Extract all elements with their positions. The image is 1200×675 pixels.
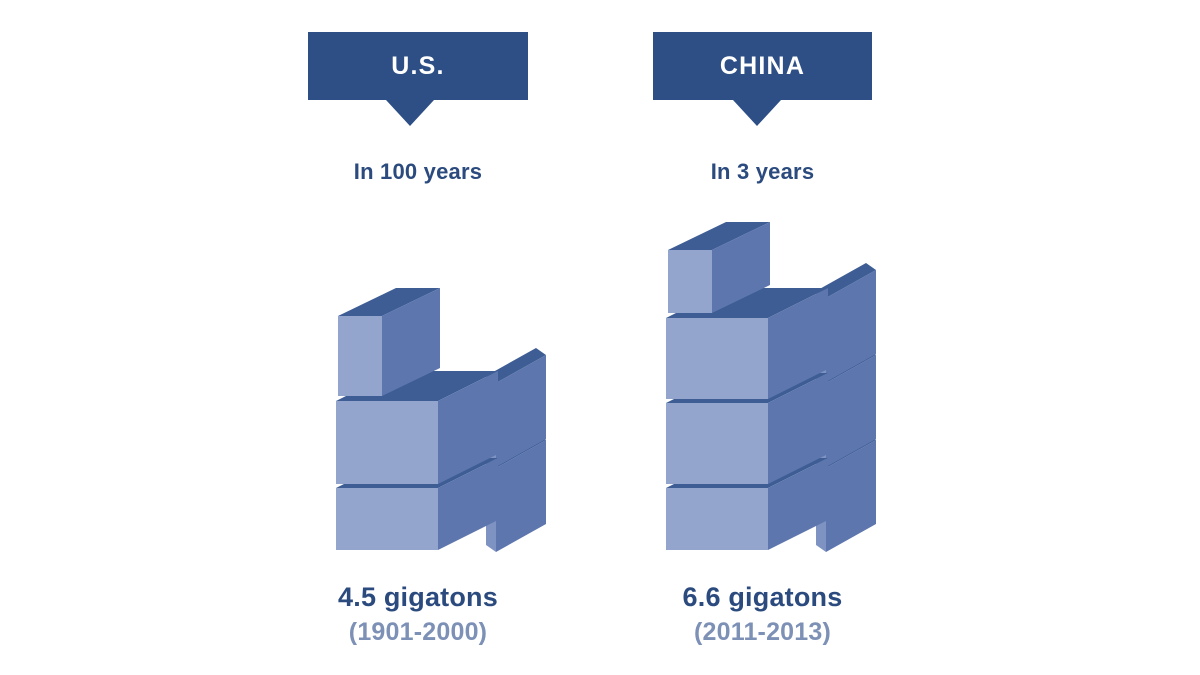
block-stack-china-graphic <box>648 222 893 548</box>
figure-china: 6.6 gigatons (2011-2013) <box>653 582 872 647</box>
banner-pointer-china-icon <box>733 100 781 126</box>
timeframe-us: In 100 years <box>308 159 528 185</box>
banner-china: CHINA <box>653 32 872 100</box>
figure-range-us: (1901-2000) <box>308 618 528 648</box>
banner-label-china: CHINA <box>720 54 805 79</box>
infographic-canvas: U.S. In 100 years <box>0 0 1200 675</box>
banner-label-us: U.S. <box>391 54 444 79</box>
block-stack-us-graphic <box>318 288 563 548</box>
banner-us: U.S. <box>308 32 528 100</box>
block-stack-us <box>318 288 563 548</box>
figure-range-china: (2011-2013) <box>653 618 872 648</box>
timeframe-china: In 3 years <box>653 159 872 185</box>
figure-us: 4.5 gigatons (1901-2000) <box>308 582 528 647</box>
figure-value-china: 6.6 gigatons <box>653 582 872 614</box>
banner-pointer-us-icon <box>386 100 434 126</box>
banner-box-china: CHINA <box>653 32 872 100</box>
banner-box-us: U.S. <box>308 32 528 100</box>
block-stack-china <box>648 222 893 548</box>
figure-value-us: 4.5 gigatons <box>308 582 528 614</box>
